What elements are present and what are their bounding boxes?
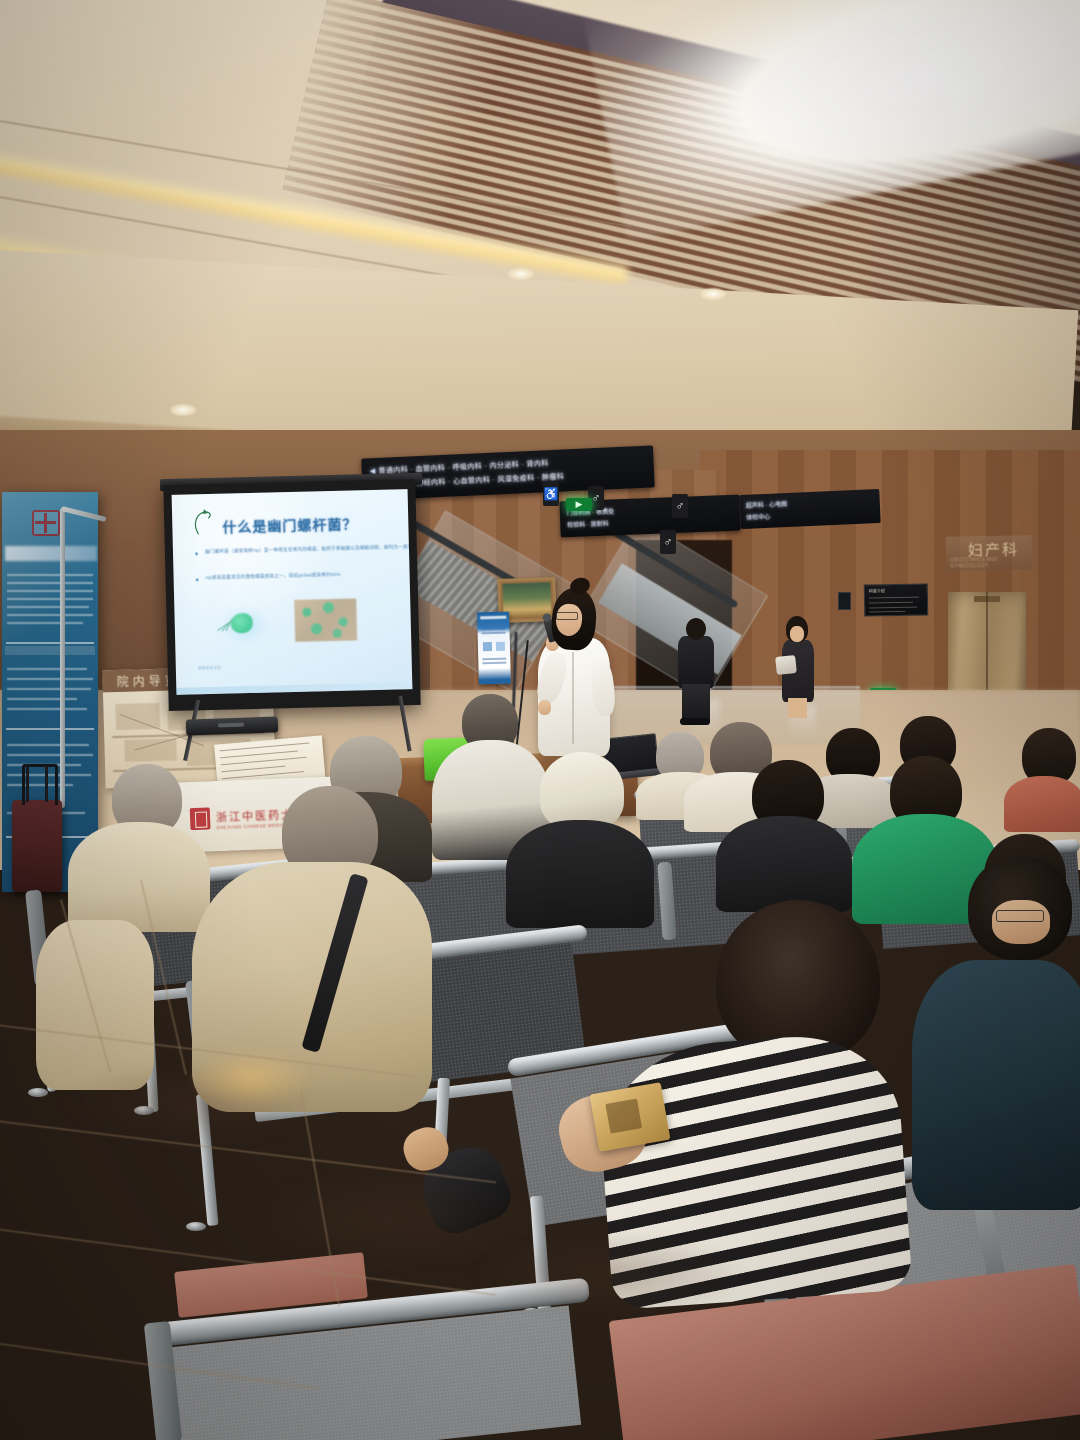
right-audience-face	[992, 900, 1050, 944]
right-audience-body	[912, 960, 1080, 1210]
electron-micrograph	[294, 598, 357, 642]
male-restroom-icon: ♂	[660, 530, 676, 554]
photo-scene: ◀普通内科 · 血管内科 · 呼吸内科 · 内分泌科 · 肾内科 ◀消化内科 ·…	[0, 0, 1080, 1440]
wall-info-plaque: 科室介绍	[864, 583, 929, 616]
ceiling-downlight	[170, 404, 196, 416]
department-sign-gynecology: 妇产科 OBSTETRICS AND GYNECOLOGY	[946, 535, 1033, 570]
ceiling-downlight	[700, 288, 726, 300]
red-seal-logo	[190, 807, 211, 830]
audience-shoulders	[68, 822, 210, 932]
male-restroom-icon: ♂	[672, 494, 688, 518]
ceiling-directory-sign-3: 超声科 · 心电图 体检中心	[739, 489, 880, 529]
slide-title: 什么是幽门螺杆菌？	[222, 514, 357, 537]
audience-shoulders	[1004, 776, 1080, 832]
rolling-suitcase	[12, 800, 62, 892]
roll-up-banner	[477, 612, 511, 685]
directory2-line-2: 检验科 · 放射科	[567, 519, 609, 530]
emergency-exit-icon: ▶	[566, 498, 592, 511]
speaker-eyeglasses	[556, 612, 578, 620]
stanchion-post	[60, 508, 65, 808]
slide-swirl-decoration	[190, 506, 217, 537]
standing-man-body	[678, 636, 714, 688]
floor-light-patch	[190, 1050, 310, 1108]
gold-box-held-item[interactable]	[590, 1082, 671, 1152]
audience-shoulders	[716, 816, 852, 912]
bench-foot	[186, 1222, 206, 1231]
projection-screen: 什么是幽门螺杆菌？ 幽门螺杆菌（通常简称Hp）是一种寄生在胃内的细菌，粘附于胃黏…	[172, 489, 413, 695]
standing-woman-face	[790, 626, 804, 642]
bacterium-diagram	[220, 605, 269, 646]
plaque-title: 科室介绍	[869, 588, 885, 594]
directory3-line-1: 超声科 · 心电图	[746, 499, 788, 510]
slide-footer-note: 健康教育讲座	[198, 666, 221, 672]
wall-notice-small	[838, 592, 851, 610]
accessible-restroom-icon: ♿	[543, 482, 559, 506]
speaker-hand-clicker	[538, 700, 551, 715]
right-audience-eyeglasses	[996, 910, 1044, 922]
ceiling-downlight	[508, 268, 534, 280]
audience-head-with-cap	[540, 752, 624, 830]
standing-man-legs	[682, 684, 710, 722]
audience-shoulders	[506, 820, 654, 928]
standing-woman-handbag	[775, 655, 797, 675]
standing-man-head	[686, 618, 706, 640]
directory3-line-2: 体检中心	[746, 512, 770, 522]
slide-bullet-marker	[196, 578, 199, 581]
standing-woman-legs	[788, 698, 807, 718]
bench-foot	[28, 1088, 48, 1097]
standing-man-shoes	[680, 718, 710, 725]
slide-bullet-marker	[195, 552, 198, 555]
department-sign-en: OBSTETRICS AND GYNECOLOGY	[950, 556, 1032, 569]
projector-soundbar	[186, 716, 279, 735]
